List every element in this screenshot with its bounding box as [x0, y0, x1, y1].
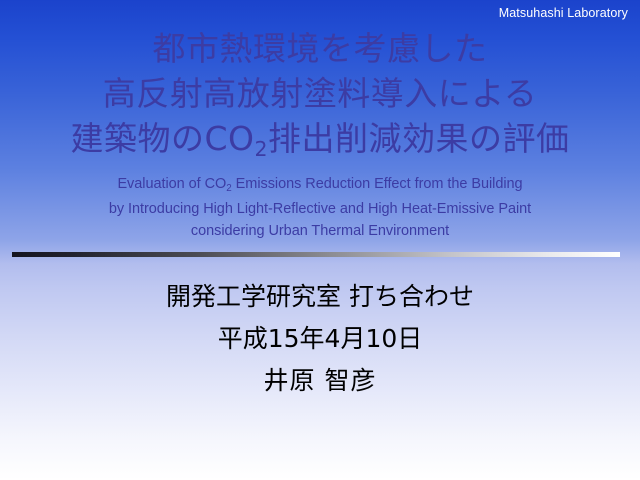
japanese-title-line-3: 建築物のCO2排出削減効果の評価: [0, 116, 640, 166]
presentation-slide: Matsuhashi Laboratory 都市熱環境を考慮した 高反射高放射塗…: [0, 0, 640, 480]
slide-body-text: 開発工学研究室 打ち合わせ 平成15年4月10日 井原 智彦: [0, 276, 640, 402]
english-subtitle-line-2: by Introducing High Light-Reflective and…: [0, 198, 640, 221]
co2-subscript-jp: 2: [255, 137, 269, 161]
japanese-title-line-3-pre: 建築物のCO: [70, 119, 254, 158]
co2-subscript-en: 2: [226, 183, 231, 194]
english-subtitle: Evaluation of CO2 Emissions Reduction Ef…: [0, 173, 640, 243]
english-subtitle-line-1-pre: Evaluation of CO: [117, 176, 226, 192]
japanese-title-line-3-post: 排出削減効果の評価: [268, 119, 570, 158]
japanese-title-line-2: 高反射高放射塗料導入による: [0, 71, 640, 116]
occasion-line: 開発工学研究室 打ち合わせ: [0, 276, 640, 318]
lab-name-header: Matsuhashi Laboratory: [499, 6, 628, 20]
english-subtitle-line-3: considering Urban Thermal Environment: [0, 220, 640, 243]
japanese-title-line-1: 都市熱環境を考慮した: [0, 26, 640, 71]
presenter-name: 井原 智彦: [0, 360, 640, 402]
english-subtitle-line-1-post: Emissions Reduction Effect from the Buil…: [232, 176, 523, 192]
gradient-divider-rule: [12, 252, 620, 257]
english-subtitle-line-1: Evaluation of CO2 Emissions Reduction Ef…: [0, 173, 640, 198]
japanese-title: 都市熱環境を考慮した 高反射高放射塗料導入による 建築物のCO2排出削減効果の評…: [0, 26, 640, 166]
date-line: 平成15年4月10日: [0, 318, 640, 360]
